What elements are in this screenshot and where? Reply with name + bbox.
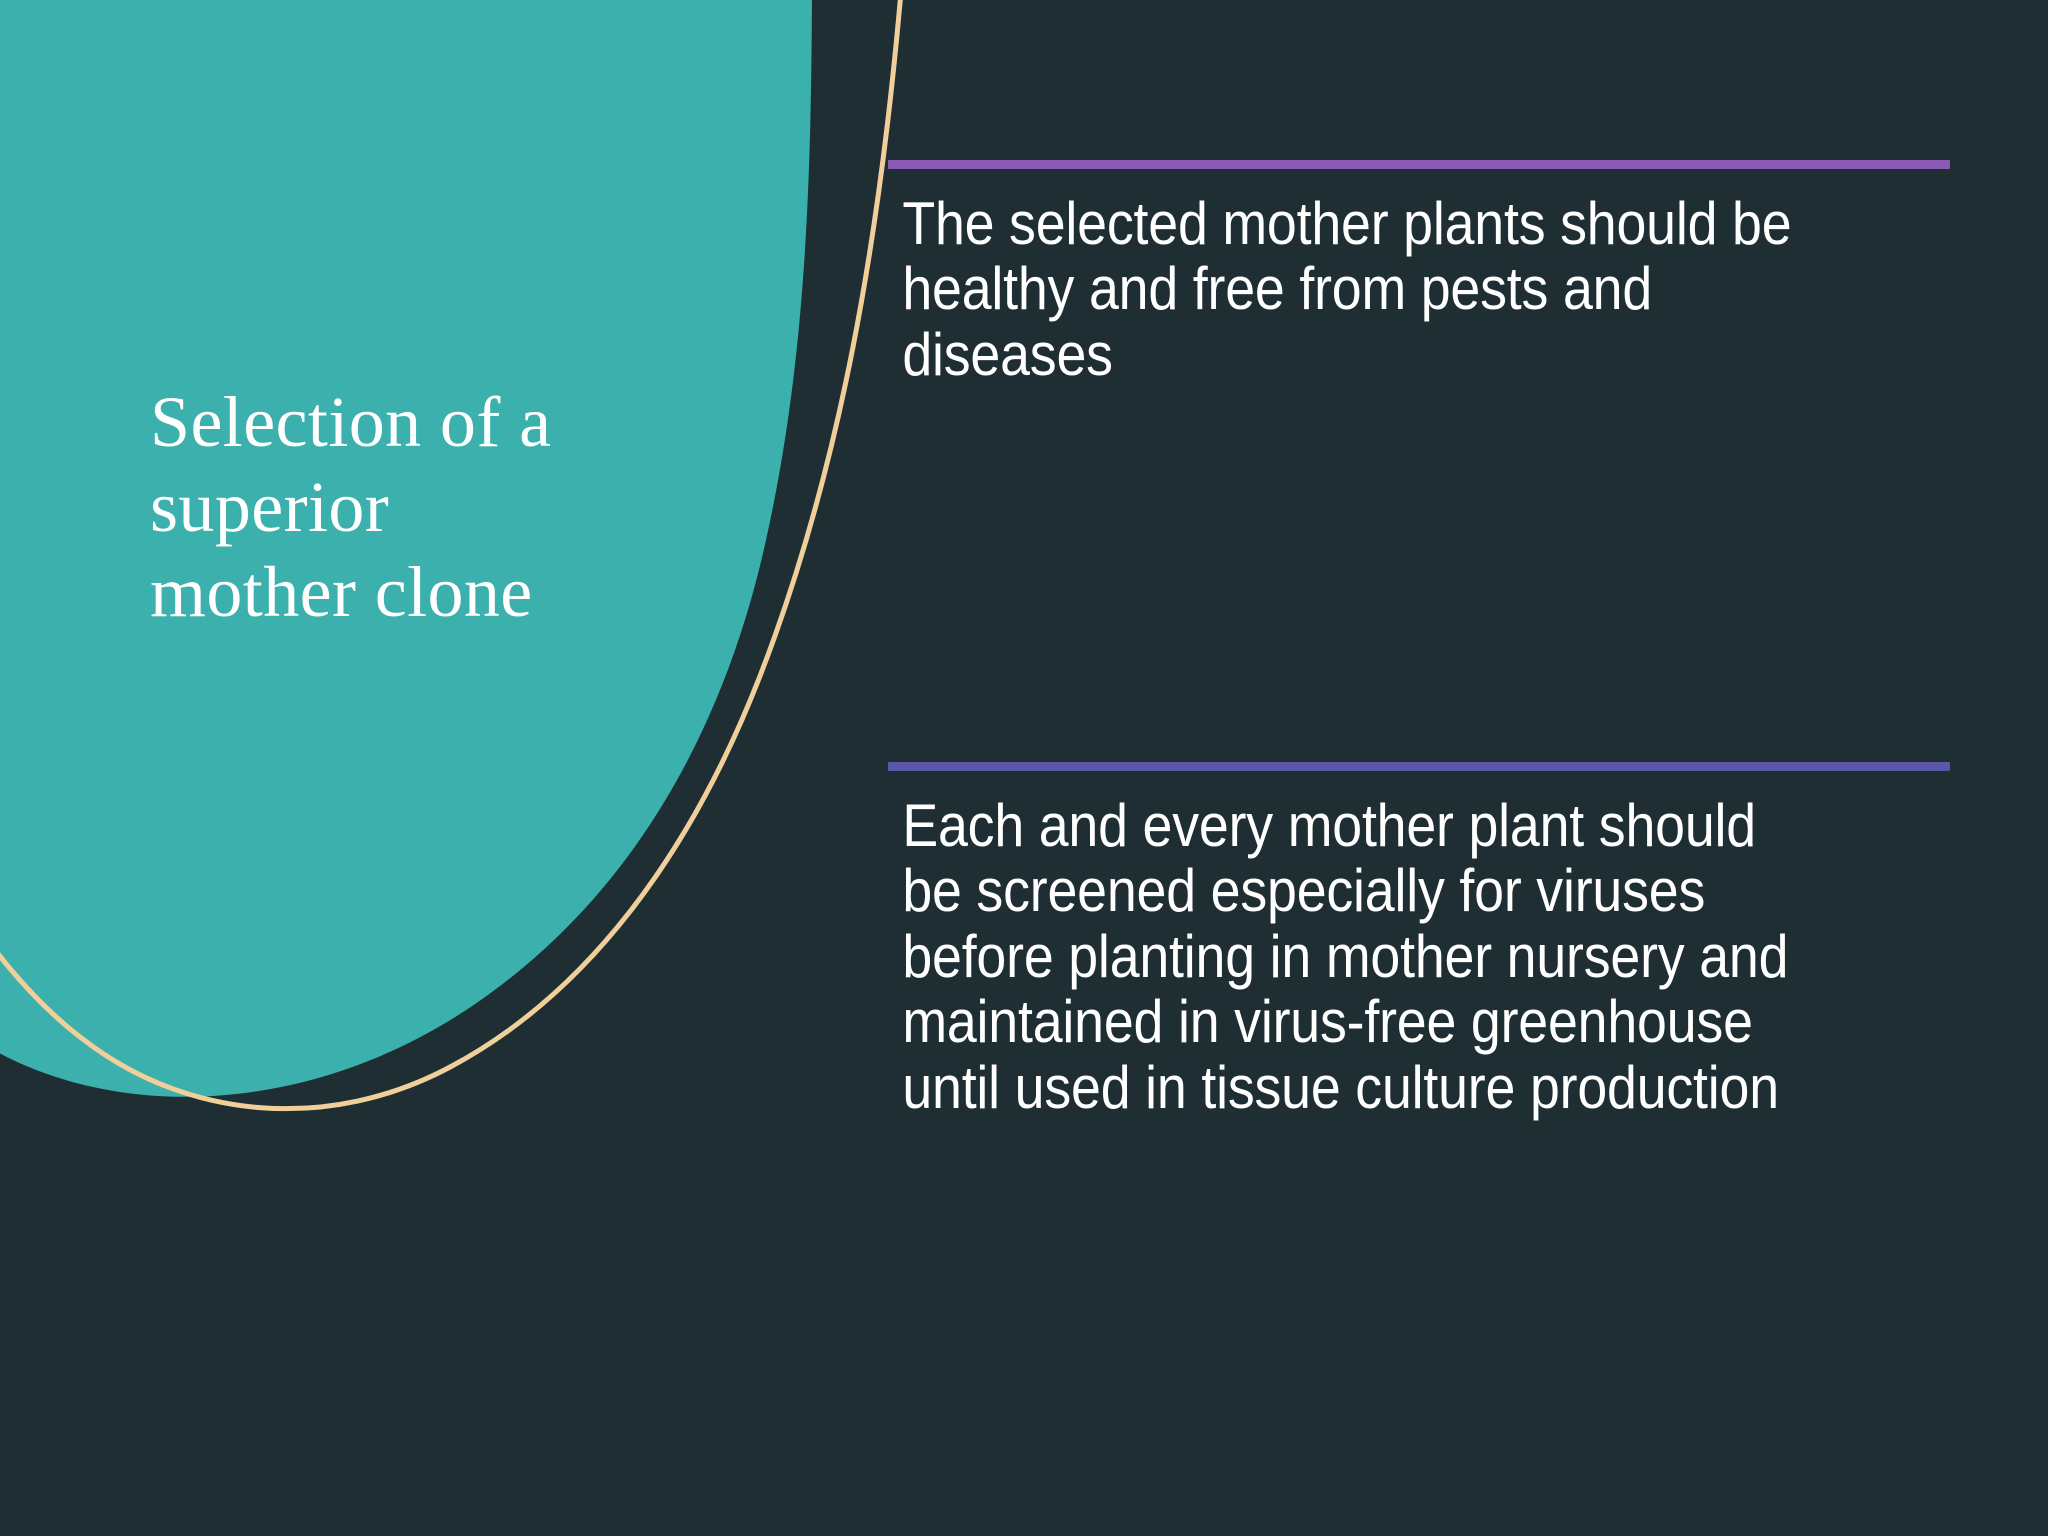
content-divider-2: [888, 762, 1950, 771]
content-column: The selected mother plants should be hea…: [888, 0, 1950, 1536]
content-block-1: The selected mother plants should be hea…: [888, 160, 1950, 387]
content-block-2: Each and every mother plant should be sc…: [888, 762, 1950, 1120]
slide-canvas: Selection of a superior mother clone The…: [0, 0, 2048, 1536]
teal-blob-shape: [0, 0, 812, 1097]
content-divider-1: [888, 160, 1950, 169]
content-block-1-text: The selected mother plants should be hea…: [888, 169, 1838, 387]
content-block-2-text: Each and every mother plant should be sc…: [888, 771, 1838, 1120]
